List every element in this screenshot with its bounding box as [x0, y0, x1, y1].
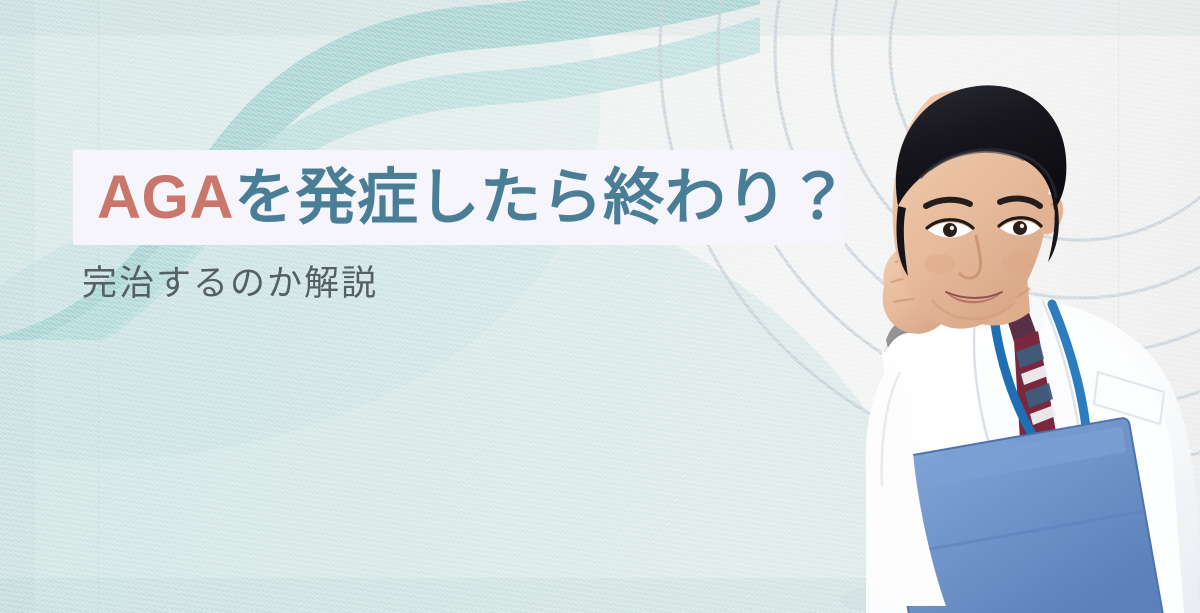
background-gridline-vertical-right [1118, 0, 1119, 613]
page-title: AGAを発症したら終わり？ [97, 167, 849, 228]
title-banner-box: AGAを発症したら終わり？ [73, 150, 845, 245]
background-band-top [0, 0, 1200, 35]
paper-texture-overlay [0, 0, 1200, 613]
background-gridline-horizontal [0, 35, 1200, 36]
doctor-illustration [780, 0, 1200, 613]
aga-hero-banner: AGAを発症したら終わり？ 完治するのか解説 [0, 0, 1200, 613]
background-band-left [0, 0, 35, 613]
background-gridline-vertical-left [98, 0, 99, 613]
title-rest-text: を発症したら終わり？ [234, 163, 849, 231]
decorative-concentric-arcs [520, 0, 1200, 550]
page-subtitle: 完治するのか解説 [82, 266, 378, 301]
title-accent-term: AGA [97, 163, 234, 231]
background-band-bottom [0, 578, 1200, 613]
